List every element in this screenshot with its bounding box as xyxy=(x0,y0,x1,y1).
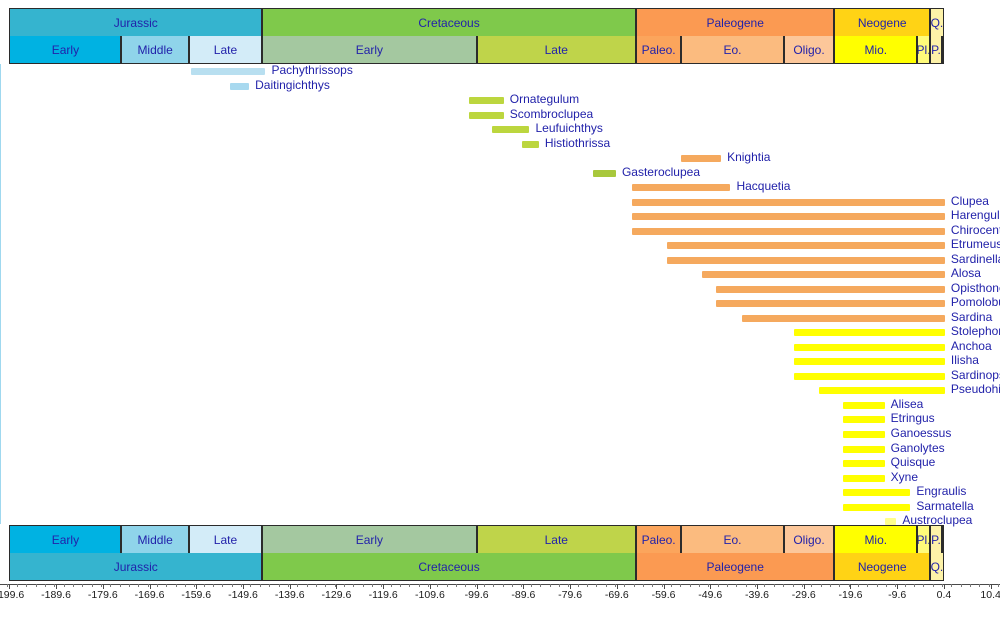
axis-tick-minor xyxy=(475,584,476,587)
axis-tick-minor xyxy=(830,584,831,587)
axis-tick-label: -129.6 xyxy=(322,589,352,601)
axis-tick-minor xyxy=(409,584,410,587)
axis-tick-minor xyxy=(905,584,906,587)
range-bar-xyne[interactable] xyxy=(843,475,885,482)
taxon-row: Ganoessus xyxy=(1,428,1000,443)
axis-tick-label: -99.6 xyxy=(465,589,489,601)
taxon-label: Alosa xyxy=(951,266,981,280)
axis-tick-minor xyxy=(279,584,280,587)
epoch-band-label: H. xyxy=(942,534,944,546)
epoch-band-early[interactable]: Early xyxy=(262,36,476,64)
taxon-row: Scombroclupea xyxy=(1,109,1000,124)
axis-tick-label: -139.6 xyxy=(275,589,305,601)
axis-tick-minor xyxy=(914,584,915,587)
epoch-band-label: Eo. xyxy=(723,534,741,546)
axis-tick-minor xyxy=(606,584,607,587)
epoch-band-label: P. xyxy=(931,534,941,546)
epoch-band-late[interactable]: Late xyxy=(189,525,262,553)
axis-tick-minor xyxy=(232,584,233,587)
epoch-band-label: P. xyxy=(931,44,941,56)
taxon-label: Stolephorus xyxy=(951,324,1000,338)
taxon-row: Gasteroclupea xyxy=(1,167,1000,182)
period-band-jurassic[interactable]: Jurassic xyxy=(9,553,262,581)
taxon-label: Etringus xyxy=(891,411,935,425)
taxon-label: Alisea xyxy=(891,397,924,411)
axis-tick-label: -109.6 xyxy=(415,589,445,601)
axis-tick-minor xyxy=(204,584,205,587)
axis-tick-minor xyxy=(381,584,382,587)
taxon-label: Sardinella xyxy=(951,252,1000,266)
axis-tick-minor xyxy=(484,584,485,587)
range-bar-sardinella[interactable] xyxy=(667,257,945,264)
taxon-row: Pachythrissops xyxy=(1,65,1000,80)
period-band-paleogene[interactable]: Paleogene xyxy=(636,553,834,581)
axis-tick-minor xyxy=(260,584,261,587)
taxon-row: Alosa xyxy=(1,268,1000,283)
axis-tick-minor xyxy=(166,584,167,587)
epoch-band-mio[interactable]: Mio. xyxy=(834,525,917,553)
axis-tick-minor xyxy=(503,584,504,587)
period-band-label: Neogene xyxy=(858,17,907,29)
epoch-band-pl[interactable]: Pl. xyxy=(917,36,930,64)
period-band-neogene[interactable]: Neogene xyxy=(834,8,930,36)
axis-tick-minor xyxy=(811,584,812,587)
taxon-row: Ganolytes xyxy=(1,443,1000,458)
epoch-band-label: Middle xyxy=(137,534,172,546)
taxon-label: Opisthonema xyxy=(951,281,1000,295)
epoch-band-mio[interactable]: Mio. xyxy=(834,36,917,64)
taxon-row: Engraulis xyxy=(1,486,1000,501)
range-bar-ornategulum[interactable] xyxy=(469,97,504,104)
axis-tick-minor xyxy=(288,584,289,587)
range-bar-daitingichthys[interactable] xyxy=(230,83,249,90)
range-bar-histiothrissa[interactable] xyxy=(522,141,538,148)
epoch-band-late[interactable]: Late xyxy=(477,36,636,64)
period-band-paleogene[interactable]: Paleogene xyxy=(636,8,834,36)
axis-tick-minor xyxy=(437,584,438,587)
epoch-band-eo[interactable]: Eo. xyxy=(681,525,783,553)
range-bar-gasteroclupea[interactable] xyxy=(593,170,616,177)
taxon-label: Ornategulum xyxy=(510,92,579,106)
axis-tick-minor xyxy=(578,584,579,587)
axis-tick-minor xyxy=(213,584,214,587)
axis-tick-label: 10.4 xyxy=(980,589,1000,601)
taxon-row: Ornategulum xyxy=(1,94,1000,109)
axis-tick-minor xyxy=(325,584,326,587)
axis-tick-minor xyxy=(335,584,336,587)
axis-tick-minor xyxy=(129,584,130,587)
range-bar-ilisha[interactable] xyxy=(794,358,945,365)
axis-tick-minor xyxy=(634,584,635,587)
axis-tick-minor xyxy=(568,584,569,587)
axis-tick-minor xyxy=(596,584,597,587)
range-bar-opisthonema[interactable] xyxy=(716,286,945,293)
axis-tick-label: -49.6 xyxy=(698,589,722,601)
axis-tick-minor xyxy=(746,584,747,587)
range-bar-stolephorus[interactable] xyxy=(794,329,945,336)
epoch-band-h[interactable]: H. xyxy=(942,36,944,64)
epoch-band-paleo[interactable]: Paleo. xyxy=(636,36,681,64)
axis-tick-minor xyxy=(17,584,18,587)
taxon-label: Pseudohilsa xyxy=(951,382,1000,396)
taxon-row: Xyne xyxy=(1,472,1000,487)
taxon-label: Chirocentrus xyxy=(951,223,1000,237)
axis-tick-minor xyxy=(708,584,709,587)
axis-tick-minor xyxy=(222,584,223,587)
axis-tick-minor xyxy=(241,584,242,587)
epoch-band-label: Late xyxy=(545,44,568,56)
period-band-label: Neogene xyxy=(858,561,907,573)
range-bar-pachythrissops[interactable] xyxy=(191,68,266,75)
axis-tick-label: -79.6 xyxy=(558,589,582,601)
taxon-row: Alisea xyxy=(1,399,1000,414)
axis-tick-minor xyxy=(774,584,775,587)
axis-tick-minor xyxy=(839,584,840,587)
taxon-row: Ilisha xyxy=(1,355,1000,370)
axis-tick-minor xyxy=(998,584,999,587)
axis-tick-minor xyxy=(736,584,737,587)
axis-tick-minor xyxy=(82,584,83,587)
taxon-label: Engraulis xyxy=(916,484,966,498)
axis-tick-label: -119.6 xyxy=(369,589,398,601)
bottom-period-band-row: JurassicCretaceousPaleogeneNeogeneQ. xyxy=(0,553,1000,581)
axis-tick-minor xyxy=(157,584,158,587)
epoch-band-label: Early xyxy=(356,44,383,56)
axis-tick-minor xyxy=(961,584,962,587)
axis-tick-minor xyxy=(764,584,765,587)
period-band-label: Jurassic xyxy=(114,561,158,573)
range-bar-sarmatella[interactable] xyxy=(843,504,911,511)
axis-tick-minor xyxy=(45,584,46,587)
axis-tick-minor xyxy=(353,584,354,587)
axis-tick-minor xyxy=(101,584,102,587)
axis-tick-minor xyxy=(465,584,466,587)
range-bar-chirocentrus[interactable] xyxy=(632,228,945,235)
axis-tick-minor xyxy=(372,584,373,587)
taxon-row: Hacquetia xyxy=(1,181,1000,196)
axis-tick-minor xyxy=(391,584,392,587)
axis-tick-minor xyxy=(559,584,560,587)
range-bar-sardinops[interactable] xyxy=(794,373,945,380)
taxon-row: Pomolobus xyxy=(1,297,1000,312)
taxon-label: Harengula xyxy=(951,208,1000,222)
taxon-label: Sarmatella xyxy=(916,499,973,513)
taxon-row: Sardina xyxy=(1,312,1000,327)
axis-tick-minor xyxy=(269,584,270,587)
taxon-row: Knightia xyxy=(1,152,1000,167)
axis-tick-minor xyxy=(138,584,139,587)
axis-tick-minor xyxy=(690,584,691,587)
taxon-label: Gasteroclupea xyxy=(622,165,700,179)
axis-tick-minor xyxy=(316,584,317,587)
axis-tick-label: -179.6 xyxy=(88,589,118,601)
range-bar-scombroclupea[interactable] xyxy=(469,112,504,119)
range-bar-engraulis[interactable] xyxy=(843,489,911,496)
epoch-band-oligo[interactable]: Oligo. xyxy=(784,525,835,553)
taxon-label: Xyne xyxy=(891,470,918,484)
range-bar-ganolytes[interactable] xyxy=(843,446,885,453)
epoch-band-label: Oligo. xyxy=(793,534,824,546)
time-axis: -199.6-189.6-179.6-169.6-159.6-149.6-139… xyxy=(0,584,1000,630)
axis-tick-minor xyxy=(531,584,532,587)
taxon-row: Anchoa xyxy=(1,341,1000,356)
period-band-label: Paleogene xyxy=(707,17,764,29)
axis-tick-label: -199.6 xyxy=(0,589,24,601)
plot-area: PachythrissopsDaitingichthysOrnategulumS… xyxy=(0,64,1000,524)
bottom-epoch-band-row: EarlyMiddleLateEarlyLatePaleo.Eo.Oligo.M… xyxy=(0,525,1000,553)
axis-tick-minor xyxy=(587,584,588,587)
epoch-band-label: Eo. xyxy=(723,44,741,56)
epoch-band-middle[interactable]: Middle xyxy=(121,525,188,553)
epoch-band-label: Early xyxy=(356,534,383,546)
axis-tick-minor xyxy=(680,584,681,587)
period-band-neogene[interactable]: Neogene xyxy=(834,553,930,581)
axis-tick-minor xyxy=(194,584,195,587)
axis-tick-minor xyxy=(297,584,298,587)
taxon-label: Ilisha xyxy=(951,353,979,367)
axis-tick-minor xyxy=(923,584,924,587)
axis-tick-minor xyxy=(400,584,401,587)
range-bar-quisque[interactable] xyxy=(843,460,885,467)
range-bar-alosa[interactable] xyxy=(702,271,945,278)
range-bar-clupea[interactable] xyxy=(632,199,945,206)
taxon-label: Scombroclupea xyxy=(510,107,593,121)
axis-tick-label: -59.6 xyxy=(652,589,676,601)
epoch-band-late[interactable]: Late xyxy=(189,36,262,64)
axis-tick-minor xyxy=(933,584,934,587)
axis-tick-minor xyxy=(895,584,896,587)
top-period-band-row: JurassicCretaceousPaleogeneNeogeneQ. xyxy=(0,8,1000,36)
taxon-label: Etrumeus xyxy=(951,237,1000,251)
axis-tick-minor xyxy=(521,584,522,587)
axis-tick-minor xyxy=(643,584,644,587)
period-band-label: Cretaceous xyxy=(418,17,479,29)
taxon-row: Quisque xyxy=(1,457,1000,472)
axis-tick-label: -149.6 xyxy=(228,589,258,601)
period-band-q[interactable]: Q. xyxy=(930,553,944,581)
taxon-label: Ganoessus xyxy=(891,426,952,440)
taxon-label: Histiothrissa xyxy=(545,136,610,150)
range-bar-anchoa[interactable] xyxy=(794,344,945,351)
epoch-band-label: Late xyxy=(214,44,237,56)
epoch-band-pl[interactable]: Pl. xyxy=(917,525,930,553)
axis-tick-minor xyxy=(456,584,457,587)
taxon-label: Hacquetia xyxy=(736,179,790,193)
period-band-label: Paleogene xyxy=(707,561,764,573)
epoch-band-middle[interactable]: Middle xyxy=(121,36,188,64)
axis-tick-label: -159.6 xyxy=(181,589,211,601)
taxon-label: Sardina xyxy=(951,310,992,324)
taxon-row: Harengula xyxy=(1,210,1000,225)
axis-tick-label: -39.6 xyxy=(745,589,769,601)
epoch-band-p[interactable]: P. xyxy=(930,525,942,553)
taxon-row: Opisthonema xyxy=(1,283,1000,298)
axis-tick-minor xyxy=(428,584,429,587)
taxon-row: Etringus xyxy=(1,413,1000,428)
range-bar-hacquetia[interactable] xyxy=(632,184,730,191)
epoch-band-h[interactable]: H. xyxy=(942,525,944,553)
taxon-row: Clupea xyxy=(1,196,1000,211)
top-epoch-band-row: EarlyMiddleLateEarlyLatePaleo.Eo.Oligo.M… xyxy=(0,36,1000,64)
epoch-band-early[interactable]: Early xyxy=(262,525,476,553)
epoch-band-label: Late xyxy=(214,534,237,546)
taxon-label: Leufuichthys xyxy=(536,121,603,135)
axis-tick-label: -69.6 xyxy=(605,589,629,601)
epoch-band-oligo[interactable]: Oligo. xyxy=(784,36,835,64)
period-band-jurassic[interactable]: Jurassic xyxy=(9,8,262,36)
axis-tick-minor xyxy=(363,584,364,587)
axis-tick-minor xyxy=(26,584,27,587)
range-bar-knightia[interactable] xyxy=(681,155,721,162)
stratigraphic-range-chart: JurassicCretaceousPaleogeneNeogeneQ. Ear… xyxy=(0,0,1000,630)
epoch-band-label: Early xyxy=(52,44,79,56)
axis-tick-minor xyxy=(7,584,8,587)
axis-tick-label: -19.6 xyxy=(838,589,862,601)
axis-tick-minor xyxy=(942,584,943,587)
axis-tick-minor xyxy=(802,584,803,587)
axis-tick-minor xyxy=(858,584,859,587)
axis-tick-minor xyxy=(307,584,308,587)
range-bar-pseudohilsa[interactable] xyxy=(819,387,945,394)
period-band-label: Q. xyxy=(931,561,944,573)
taxon-row: Sarmatella xyxy=(1,501,1000,516)
axis-tick-minor xyxy=(176,584,177,587)
axis-tick-minor xyxy=(793,584,794,587)
taxon-row: Etrumeus xyxy=(1,239,1000,254)
axis-tick-label: -9.6 xyxy=(888,589,906,601)
range-bar-alisea[interactable] xyxy=(843,402,885,409)
axis-tick-minor xyxy=(951,584,952,587)
epoch-band-label: Late xyxy=(545,534,568,546)
epoch-band-label: Paleo. xyxy=(642,534,676,546)
taxon-label: Quisque xyxy=(891,455,936,469)
axis-tick-minor xyxy=(73,584,74,587)
axis-tick-label: -89.6 xyxy=(511,589,535,601)
axis-tick-minor xyxy=(64,584,65,587)
epoch-band-label: Mio. xyxy=(864,534,887,546)
axis-tick-minor xyxy=(970,584,971,587)
axis-tick-minor xyxy=(652,584,653,587)
axis-tick-minor xyxy=(718,584,719,587)
epoch-band-late[interactable]: Late xyxy=(477,525,636,553)
range-bar-harengula[interactable] xyxy=(632,213,945,220)
taxon-row: Chirocentrus xyxy=(1,225,1000,240)
axis-tick-minor xyxy=(120,584,121,587)
epoch-band-label: Pl. xyxy=(917,534,930,546)
axis-tick-minor xyxy=(250,584,251,587)
axis-tick-minor xyxy=(671,584,672,587)
axis-tick-minor xyxy=(615,584,616,587)
taxon-row: Sardinella xyxy=(1,254,1000,269)
axis-tick-minor xyxy=(624,584,625,587)
axis-tick-minor xyxy=(849,584,850,587)
epoch-band-p[interactable]: P. xyxy=(930,36,942,64)
taxon-label: Pachythrissops xyxy=(271,63,352,77)
axis-tick-minor xyxy=(877,584,878,587)
axis-tick-minor xyxy=(344,584,345,587)
axis-tick-minor xyxy=(185,584,186,587)
axis-tick-label: -169.6 xyxy=(135,589,165,601)
axis-tick-minor xyxy=(699,584,700,587)
axis-tick-minor xyxy=(727,584,728,587)
epoch-band-label: Pl. xyxy=(917,44,930,56)
axis-tick-label: 0.4 xyxy=(937,589,952,601)
axis-tick-minor xyxy=(540,584,541,587)
taxon-row: Sardinops xyxy=(1,370,1000,385)
epoch-band-label: Mio. xyxy=(864,44,887,56)
period-band-q[interactable]: Q. xyxy=(930,8,944,36)
range-bar-ganoessus[interactable] xyxy=(843,431,885,438)
epoch-band-label: Oligo. xyxy=(793,44,824,56)
taxon-row: Leufuichthys xyxy=(1,123,1000,138)
taxon-label: Clupea xyxy=(951,194,989,208)
axis-tick-label: -189.6 xyxy=(41,589,71,601)
axis-tick-minor xyxy=(662,584,663,587)
taxon-row: Pseudohilsa xyxy=(1,384,1000,399)
axis-tick-minor xyxy=(148,584,149,587)
taxon-label: Daitingichthys xyxy=(255,78,330,92)
axis-tick-minor xyxy=(54,584,55,587)
taxon-label: Ganolytes xyxy=(891,441,945,455)
taxon-row: Histiothrissa xyxy=(1,138,1000,153)
axis-tick-minor xyxy=(783,584,784,587)
epoch-band-eo[interactable]: Eo. xyxy=(681,36,783,64)
axis-tick-minor xyxy=(493,584,494,587)
range-bar-leufuichthys[interactable] xyxy=(492,126,529,133)
axis-tick-minor xyxy=(550,584,551,587)
axis-tick-minor xyxy=(447,584,448,587)
range-bar-etringus[interactable] xyxy=(843,416,885,423)
taxon-label: Knightia xyxy=(727,150,770,164)
axis-tick-minor xyxy=(867,584,868,587)
taxon-label: Sardinops xyxy=(951,368,1000,382)
axis-tick-minor xyxy=(110,584,111,587)
taxon-label: Pomolobus xyxy=(951,295,1000,309)
axis-tick-minor xyxy=(755,584,756,587)
epoch-band-label: Middle xyxy=(137,44,172,56)
axis-tick-minor xyxy=(419,584,420,587)
taxon-row: Stolephorus xyxy=(1,326,1000,341)
range-bar-etrumeus[interactable] xyxy=(667,242,945,249)
axis-tick-minor xyxy=(989,584,990,587)
range-bar-sardina[interactable] xyxy=(742,315,945,322)
epoch-band-paleo[interactable]: Paleo. xyxy=(636,525,681,553)
period-band-cretaceous[interactable]: Cretaceous xyxy=(262,8,636,36)
period-band-label: Jurassic xyxy=(114,17,158,29)
period-band-label: Q. xyxy=(931,17,944,29)
taxon-label: Anchoa xyxy=(951,339,992,353)
axis-tick-minor xyxy=(886,584,887,587)
axis-tick-minor xyxy=(92,584,93,587)
range-bar-pomolobus[interactable] xyxy=(716,300,945,307)
period-band-label: Cretaceous xyxy=(418,561,479,573)
taxon-row: Daitingichthys xyxy=(1,80,1000,95)
epoch-band-label: Paleo. xyxy=(642,44,676,56)
axis-tick-minor xyxy=(821,584,822,587)
epoch-band-early[interactable]: Early xyxy=(9,525,121,553)
period-band-cretaceous[interactable]: Cretaceous xyxy=(262,553,636,581)
epoch-band-label: Early xyxy=(52,534,79,546)
epoch-band-early[interactable]: Early xyxy=(9,36,121,64)
epoch-band-label: H. xyxy=(942,44,944,56)
axis-tick-label: -29.6 xyxy=(792,589,816,601)
axis-tick-minor xyxy=(512,584,513,587)
axis-tick-minor xyxy=(979,584,980,587)
axis-tick-minor xyxy=(36,584,37,587)
